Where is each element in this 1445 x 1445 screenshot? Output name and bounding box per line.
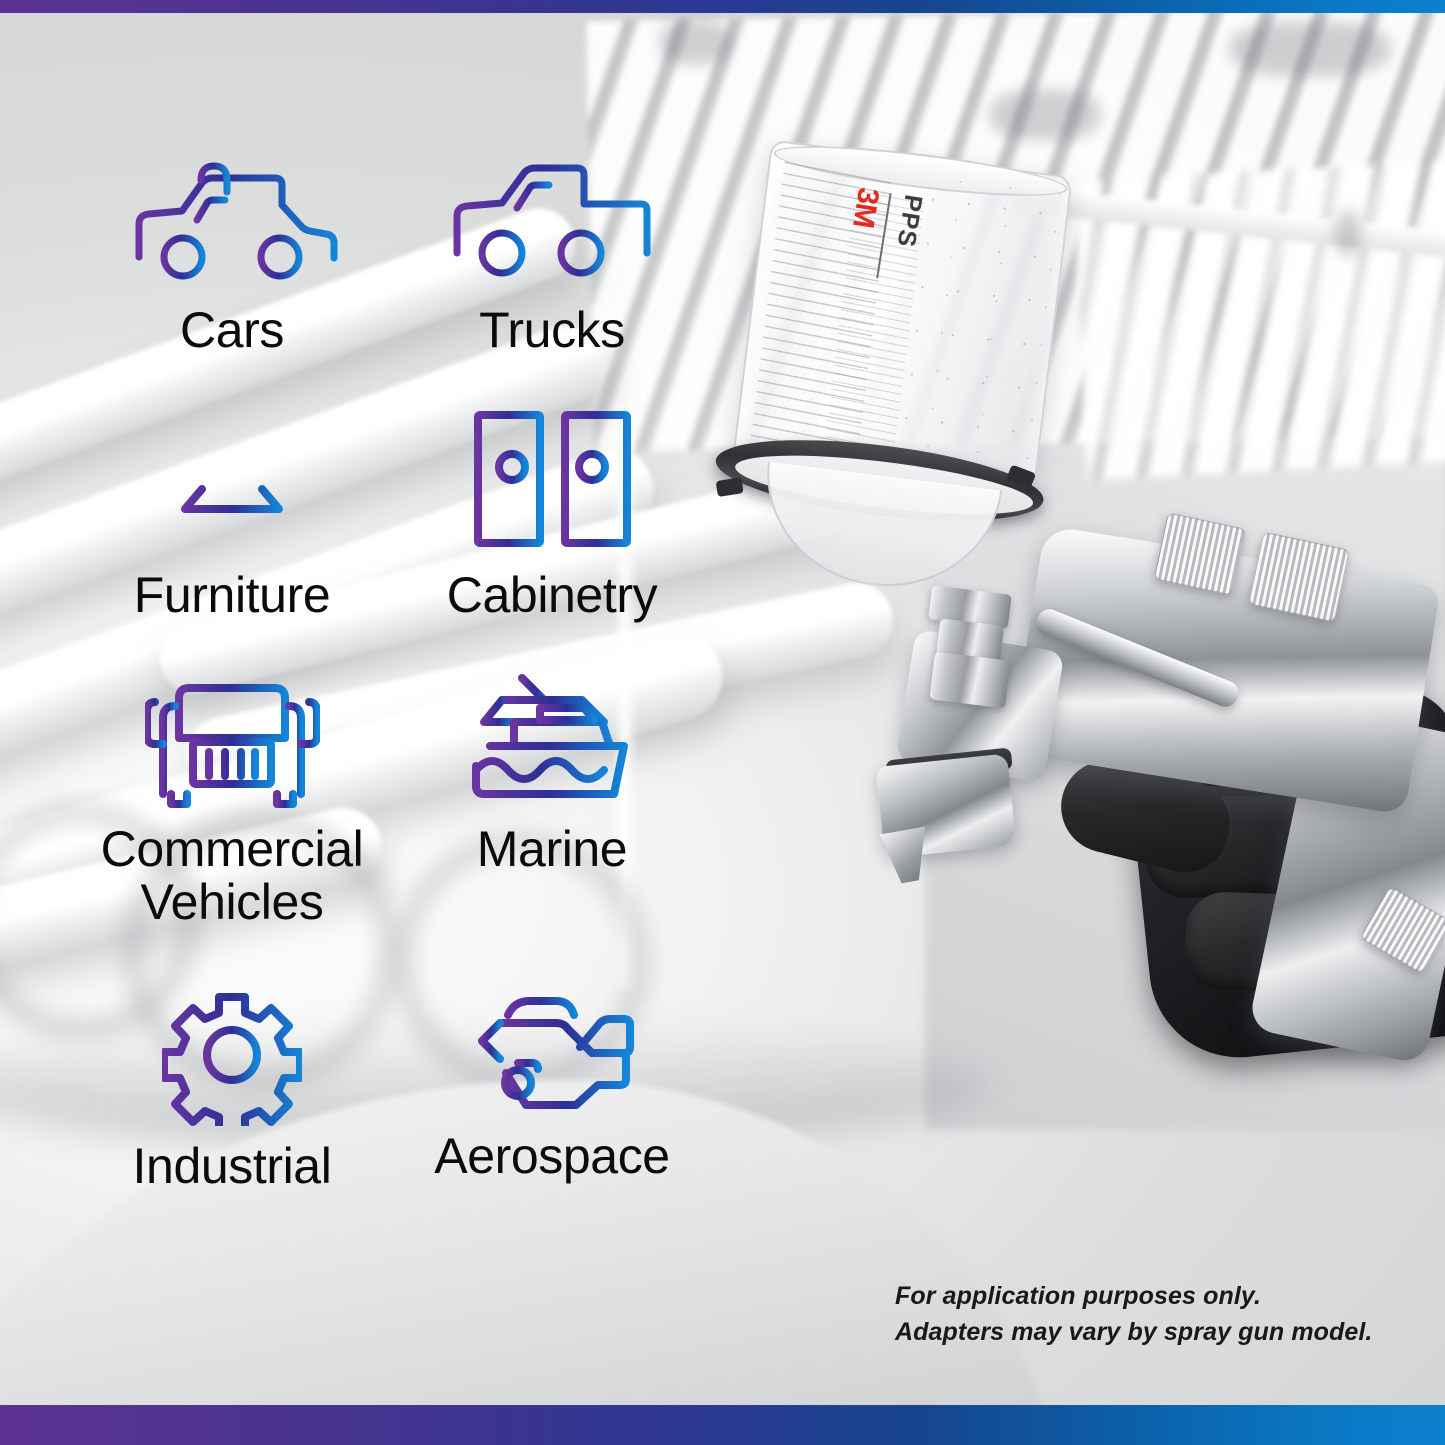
application-label: Cars [180, 304, 284, 357]
application-label: Commercial Vehicles [101, 823, 364, 929]
application-label: Cabinetry [447, 569, 657, 622]
product-feature-image: PPS 3M [0, 0, 1445, 1445]
cup-collar-clip [716, 477, 744, 497]
semi-truck-front-icon [145, 674, 320, 809]
icon-row: Cars Trucks [72, 150, 712, 357]
icon-row: Industrial [72, 991, 712, 1193]
cup-adapter-lower [929, 652, 1010, 709]
application-commercial-vehicles[interactable]: Commercial Vehicles [72, 674, 392, 929]
boat-icon [462, 674, 642, 809]
brand-bar-bottom [0, 1405, 1445, 1445]
application-marine[interactable]: Marine [392, 674, 712, 929]
application-aerospace[interactable]: Aerospace [392, 991, 712, 1193]
application-industrial[interactable]: Industrial [72, 991, 392, 1193]
car-icon [125, 150, 340, 290]
pps-paint-cup: PPS 3M [710, 128, 1140, 601]
icon-row: Commercial Vehicles [72, 674, 712, 929]
application-label: Furniture [134, 569, 330, 622]
application-icon-grid: Cars Trucks [72, 150, 712, 1193]
application-label: Marine [477, 823, 627, 876]
disclaimer-text: For application purposes only. Adapters … [895, 1278, 1415, 1350]
application-furniture[interactable]: Furniture [72, 405, 392, 622]
icon-row: Furniture Cabinetry [72, 405, 712, 622]
airplane-icon [460, 991, 645, 1116]
application-label: Industrial [133, 1140, 332, 1193]
brand-bar-top [0, 0, 1445, 13]
cabinet-doors-icon [470, 405, 635, 555]
pickup-truck-icon [445, 150, 660, 290]
application-cabinetry[interactable]: Cabinetry [392, 405, 712, 622]
application-label: Aerospace [434, 1130, 669, 1183]
application-label: Trucks [479, 304, 625, 357]
gear-icon [162, 991, 302, 1126]
chair-icon [167, 405, 297, 555]
application-trucks[interactable]: Trucks [392, 150, 712, 357]
application-cars[interactable]: Cars [72, 150, 392, 357]
